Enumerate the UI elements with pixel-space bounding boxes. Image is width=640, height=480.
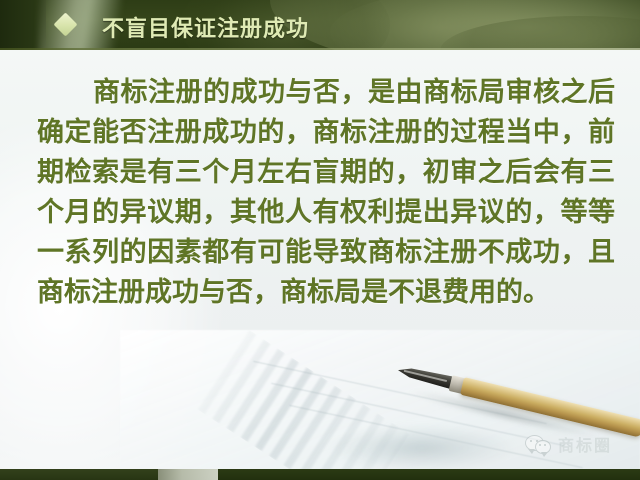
footer-band-notch: [158, 469, 218, 480]
header-wave-decoration: [440, 16, 640, 50]
body-paragraph: 商标注册的成功与否，是由商标局审核之后确定能否注册成功的，商标注册的过程当中，前…: [37, 72, 615, 312]
wechat-eye-dot: [539, 444, 541, 446]
watermark-label: 商标圈: [558, 432, 612, 456]
wechat-eye-dot: [530, 440, 532, 442]
footer-band-left-segment: [0, 469, 158, 480]
wechat-bubble-small: [535, 440, 551, 454]
header-wave-decoration: [330, 0, 640, 50]
wechat-icon: [525, 433, 551, 455]
header-wave-decoration: [270, 0, 640, 50]
slide-header-bar: 不盲目保证注册成功: [0, 0, 640, 50]
slide-title: 不盲目保证注册成功: [102, 11, 309, 43]
header-bottom-border: [0, 48, 640, 50]
slide-canvas: 不盲目保证注册成功 商标注册的成功与否，是由商标局审核之后确定能否注册成功的，商…: [0, 0, 640, 480]
watermark: 商标圈: [525, 432, 612, 456]
wechat-eye-dot: [544, 444, 546, 446]
